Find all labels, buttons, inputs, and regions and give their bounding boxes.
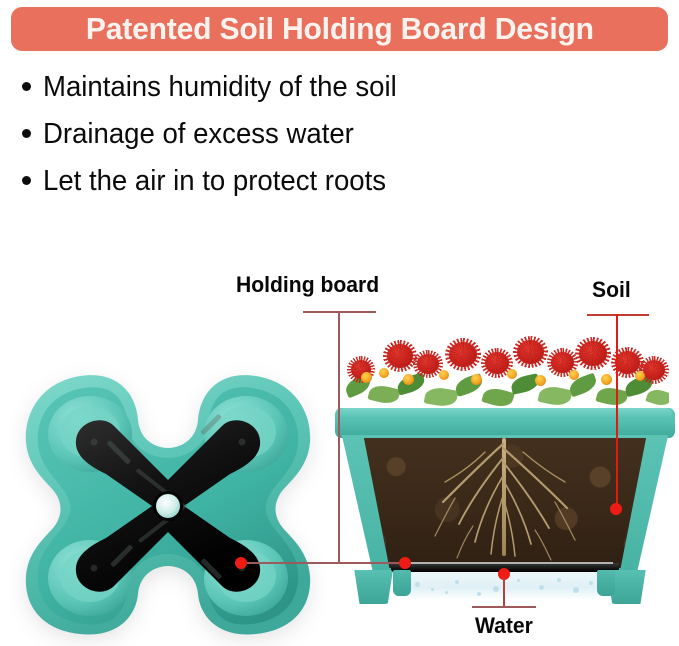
callout-leader-bar-water (472, 606, 536, 608)
callout-marker-holding-board-section (399, 557, 411, 569)
soil-layer (335, 438, 675, 568)
feature-text: Drainage of excess water (43, 117, 354, 151)
callout-label-soil: Soil (592, 277, 631, 303)
callout-leader-line-holding-board-horizontal (247, 562, 408, 564)
feature-text: Let the air in to protect roots (43, 164, 386, 198)
callout-leader-line-holding-board (338, 311, 340, 563)
callout-marker-holding-board-topview (235, 557, 247, 569)
top-view-planter-image (18, 368, 318, 638)
center-drain-hole (156, 494, 180, 518)
callout-leader-bar-soil (587, 314, 649, 316)
list-item: Maintains humidity of the soil (22, 70, 662, 117)
planter-foot-inner-right (597, 570, 615, 596)
list-item: Drainage of excess water (22, 117, 662, 164)
bullet-dot-icon (22, 129, 31, 138)
callout-leader-line-soil (616, 314, 618, 510)
header-banner: Patented Soil Holding Board Design (11, 7, 668, 51)
callout-marker-soil (610, 503, 622, 515)
product-infographic: Patented Soil Holding Board Design Maint… (0, 0, 679, 646)
feature-text: Maintains humidity of the soil (43, 70, 397, 104)
cross-section-planter-image (335, 330, 675, 600)
callout-label-water: Water (475, 613, 533, 639)
planter-body (335, 435, 675, 570)
callout-label-holding-board: Holding board (236, 272, 379, 298)
planter-foot-left (349, 570, 393, 604)
bullet-dot-icon (22, 82, 31, 91)
feature-list: Maintains humidity of the soil Drainage … (22, 70, 662, 211)
root-system (335, 438, 675, 568)
plant-foliage (339, 332, 669, 416)
bullet-dot-icon (22, 176, 31, 185)
planter-foot-inner-left (393, 570, 411, 596)
page-title: Patented Soil Holding Board Design (86, 11, 594, 47)
planter-rim-lip (338, 408, 672, 417)
callout-leader-line-water (503, 578, 505, 607)
list-item: Let the air in to protect roots (22, 164, 662, 211)
clover-planter-illustration (18, 368, 318, 638)
board-highlight (395, 562, 613, 564)
